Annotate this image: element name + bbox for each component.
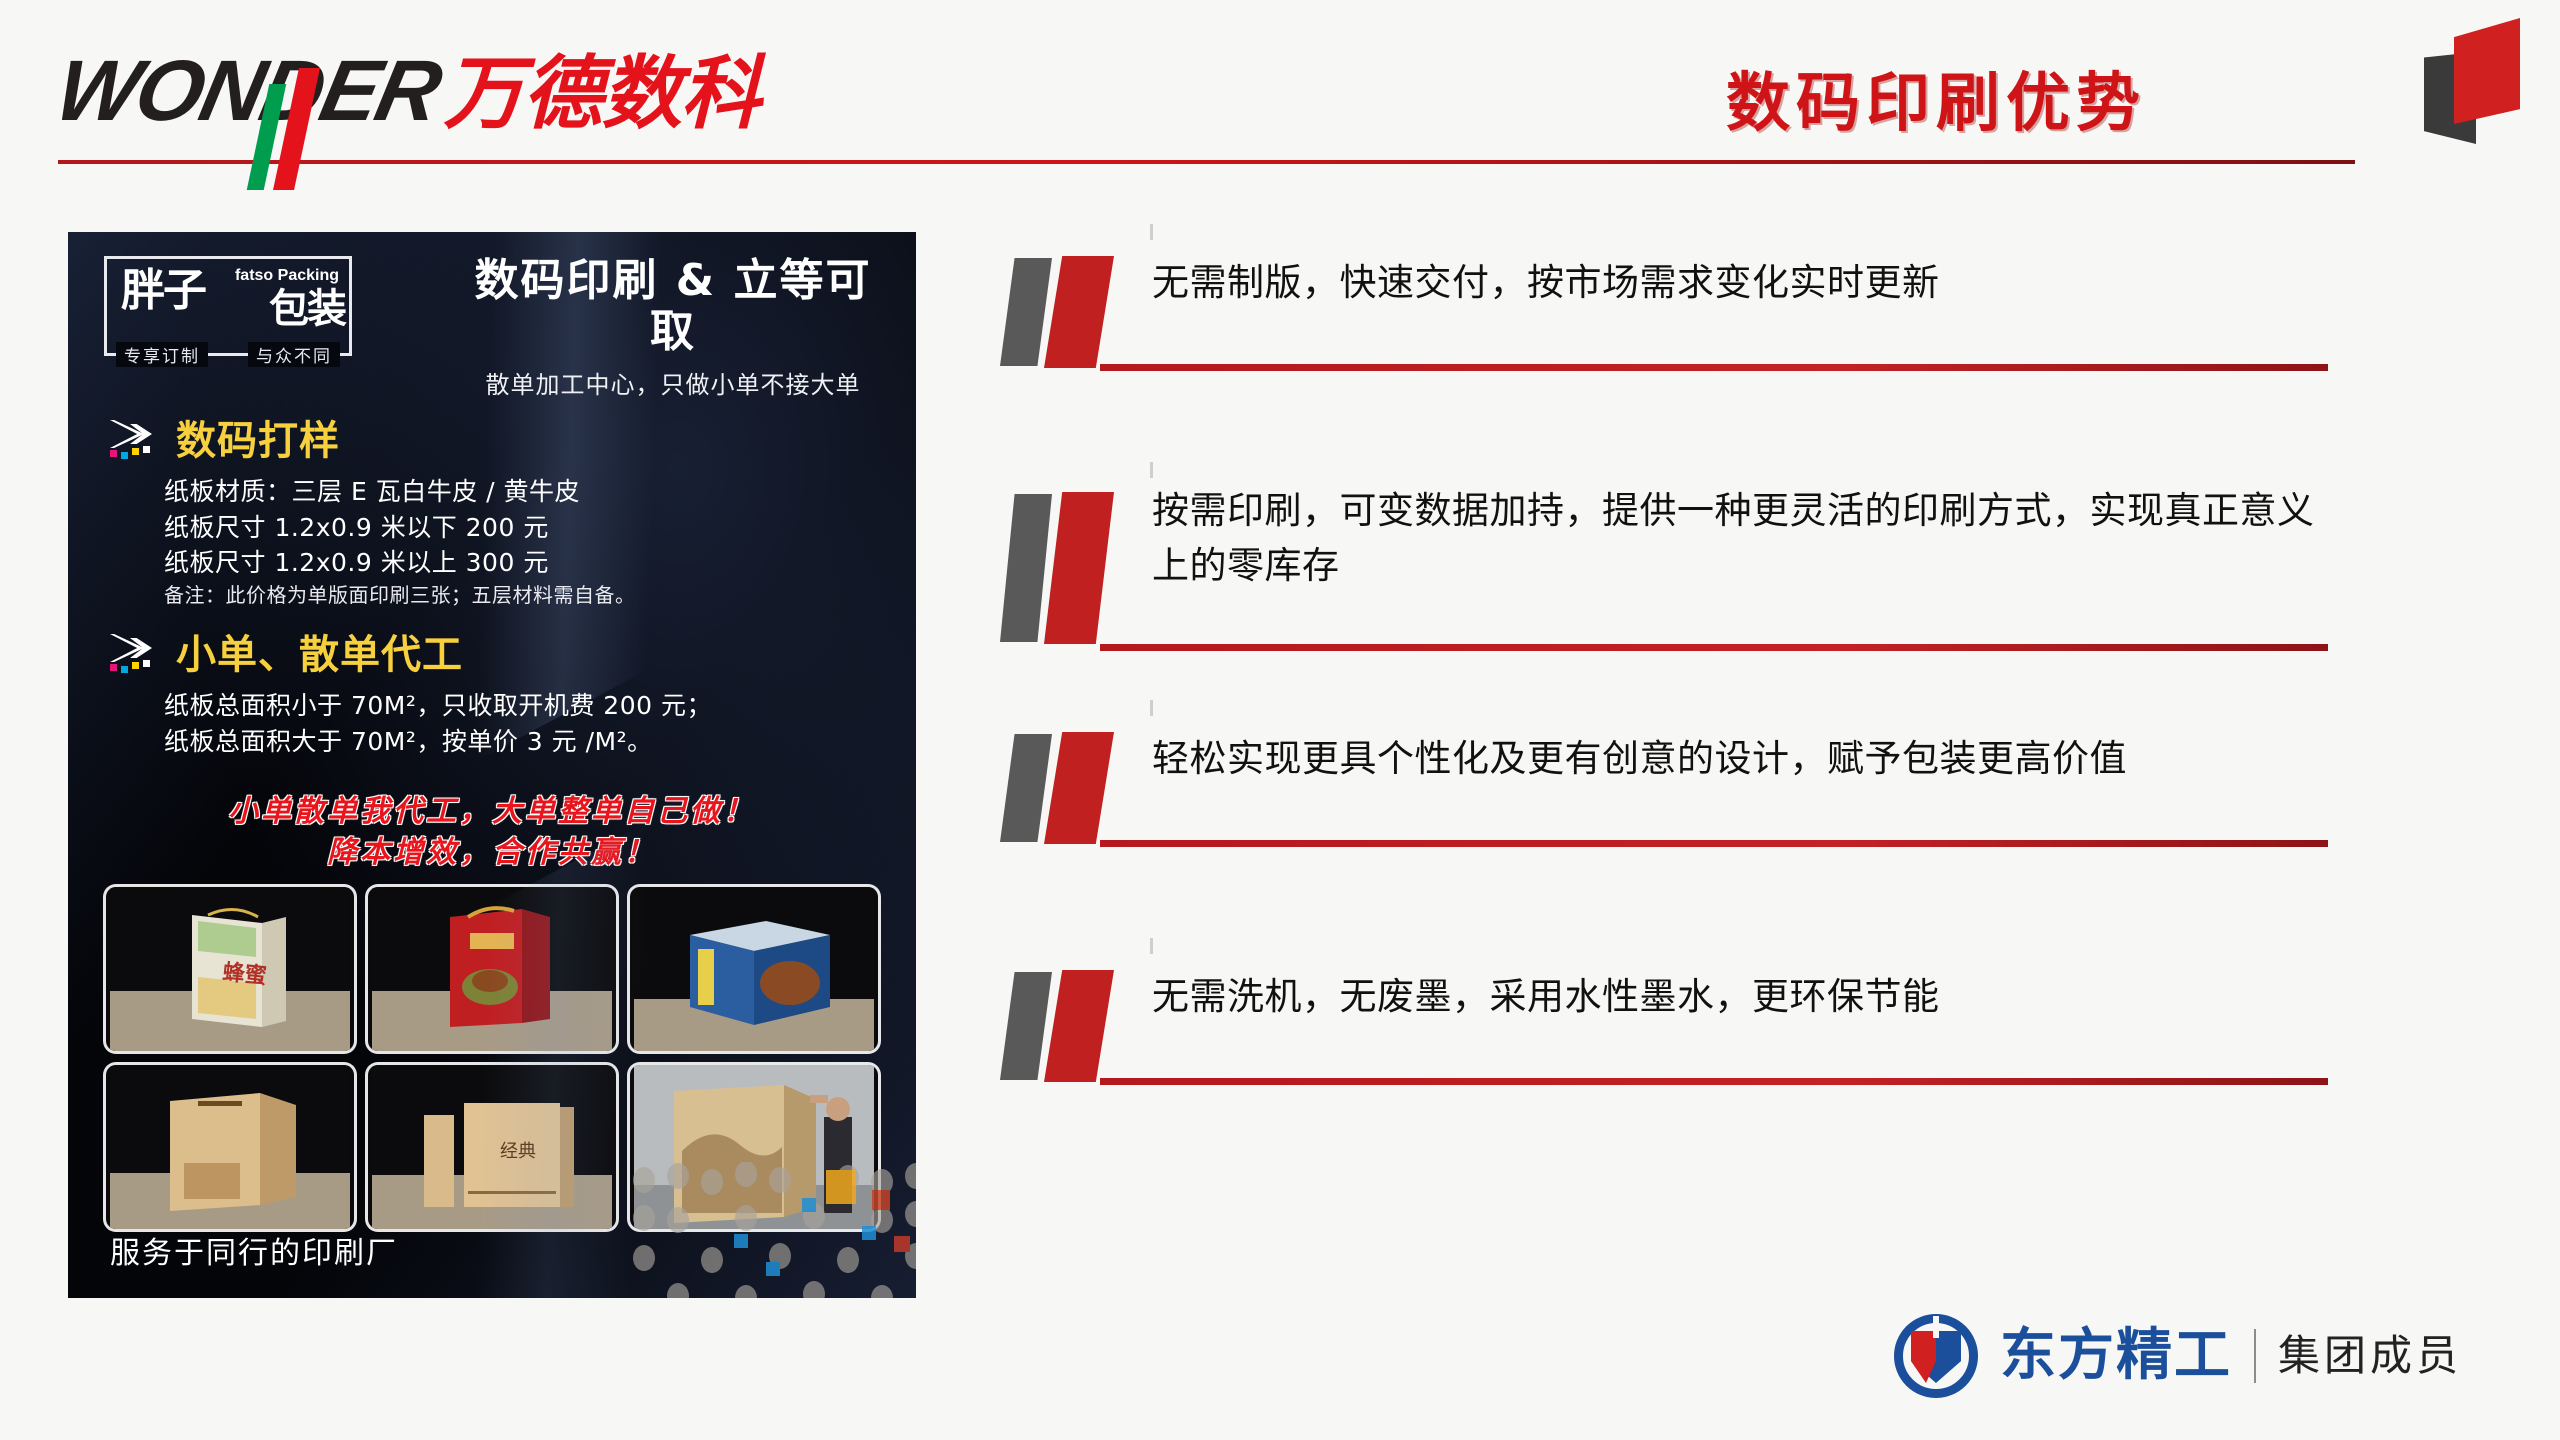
tick-mark-icon <box>1150 938 1153 954</box>
section-1-header: 数码打样 <box>104 418 896 464</box>
fatso-logo-en: fatso Packing <box>235 267 339 285</box>
brand-latin-text: WONDER <box>49 48 447 134</box>
fatso-logo-cn2: 包装 <box>269 289 345 329</box>
corner-decoration-icon <box>2418 6 2526 156</box>
product-photo <box>106 1065 354 1229</box>
section-2-line-2: 纸板总面积大于 70M²，按单价 3 元 /M²。 <box>164 724 896 760</box>
footer-member-label: 集团成员 <box>2278 1335 2462 1377</box>
section-1-note: 备注：此价格为单版面印刷三张；五层材料需自备。 <box>164 581 896 609</box>
poster-image: 胖子 fatso Packing 包装 专享订制 与众不同 数码印刷 & 立等可… <box>68 232 916 1298</box>
honey-gift-box-image: 蜂蜜 <box>106 887 354 1051</box>
corner-red-shape <box>2454 18 2520 124</box>
brand-chinese-text: 万德数科 <box>444 54 760 134</box>
poster-subheadline: 散单加工中心，只做小单不接大单 <box>458 365 888 400</box>
section-2-header: 小单、散单代工 <box>104 632 896 678</box>
advantage-underline <box>1100 364 2328 371</box>
tick-mark-icon <box>1150 462 1153 478</box>
chevron-arrow-icon <box>104 418 162 464</box>
dot-pattern-decoration <box>626 1162 916 1298</box>
section-2-line-1: 纸板总面积小于 70M²，只收取开机费 200 元； <box>164 688 896 724</box>
fatso-logo-cn: 胖子 <box>121 269 205 313</box>
page-title: 数码印刷优势 <box>1726 52 2146 144</box>
large-scenic-box-with-person-image <box>630 1065 878 1229</box>
tagline-left: 专享订制 <box>116 342 208 367</box>
poster-slogan: 小单散单我代工，大单整单自己做！ 降本增效，合作共赢！ <box>68 792 916 873</box>
advantage-text-2: 按需印刷，可变数据加持，提供一种更灵活的印刷方式，实现真正意义上的零库存 <box>1152 484 2330 594</box>
advantage-text-1: 无需制版，快速交付，按市场需求变化实时更新 <box>1152 256 2330 311</box>
fatso-logo: 胖子 fatso Packing 包装 专享订制 与众不同 <box>104 256 352 356</box>
svg-text:蜂蜜: 蜂蜜 <box>221 959 267 989</box>
beef-carton-box-image <box>630 887 878 1051</box>
slogan-line-2: 降本增效，合作共赢！ <box>68 833 916 874</box>
footer-divider <box>2254 1329 2256 1383</box>
group-member-logo: 东方精工 集团成员 <box>1894 1314 2462 1398</box>
footer-company-name: 东方精工 <box>2000 1328 2232 1384</box>
advantage-underline <box>1100 840 2328 847</box>
advantage-marker-icon <box>1000 732 1128 844</box>
tick-mark-icon <box>1150 224 1153 240</box>
product-photo <box>630 887 878 1051</box>
advantage-text-4: 无需洗机，无废墨，采用水性墨水，更环保节能 <box>1152 970 2330 1025</box>
advantage-underline <box>1100 1078 2328 1085</box>
advantage-item-2: 按需印刷，可变数据加持，提供一种更灵活的印刷方式，实现真正意义上的零库存 <box>1000 484 2330 722</box>
poster-footer-text: 服务于同行的印刷厂 <box>110 1228 398 1272</box>
dongfang-emblem-icon <box>1894 1314 1978 1398</box>
product-photo: 经典 <box>368 1065 616 1229</box>
company-logo: WONDER 万德数科 <box>58 48 760 134</box>
advantage-marker-icon <box>1000 256 1128 368</box>
advantage-underline <box>1100 644 2328 651</box>
header-divider <box>58 160 2355 164</box>
section-1-line-3: 纸板尺寸 1.2x0.9 米以上 300 元 <box>164 545 896 581</box>
poster-section-1: 数码打样 纸板材质：三层 E 瓦白牛皮 / 黄牛皮 纸板尺寸 1.2x0.9 米… <box>104 418 896 609</box>
product-photo <box>630 1065 878 1229</box>
advantage-marker-icon <box>1000 492 1128 642</box>
tagline-right: 与众不同 <box>248 342 340 367</box>
red-food-gift-box-image <box>368 887 616 1051</box>
section-1-line-1: 纸板材质：三层 E 瓦白牛皮 / 黄牛皮 <box>164 474 896 510</box>
tick-mark-icon <box>1150 700 1153 716</box>
section-1-lines: 纸板材质：三层 E 瓦白牛皮 / 黄牛皮 纸板尺寸 1.2x0.9 米以下 20… <box>164 474 896 609</box>
section-1-line-2: 纸板尺寸 1.2x0.9 米以下 200 元 <box>164 510 896 546</box>
classic-kraft-box-set-image: 经典 <box>368 1065 616 1229</box>
chevron-arrow-icon <box>104 632 162 678</box>
section-1-title: 数码打样 <box>176 421 340 461</box>
slide-root: WONDER 万德数科 数码印刷优势 胖子 fatso Packing 包装 专… <box>0 0 2560 1440</box>
advantages-list: 无需制版，快速交付，按市场需求变化实时更新 按需印刷，可变数据加持，提供一种更灵… <box>1000 246 2330 1198</box>
section-2-title: 小单、散单代工 <box>176 635 463 675</box>
poster-headline-block: 数码印刷 & 立等可取 散单加工中心，只做小单不接大单 <box>458 256 888 400</box>
svg-text:经典: 经典 <box>500 1141 536 1162</box>
advantage-item-4: 无需洗机，无废墨，采用水性墨水，更环保节能 <box>1000 960 2330 1198</box>
poster-section-2: 小单、散单代工 纸板总面积小于 70M²，只收取开机费 200 元； 纸板总面积… <box>104 632 896 759</box>
product-photo <box>368 887 616 1051</box>
section-2-lines: 纸板总面积小于 70M²，只收取开机费 200 元； 纸板总面积大于 70M²，… <box>164 688 896 759</box>
poster-headline: 数码印刷 & 立等可取 <box>458 256 888 357</box>
product-photo: 蜂蜜 <box>106 887 354 1051</box>
slogan-line-1: 小单散单我代工，大单整单自己做！ <box>68 792 916 833</box>
advantage-marker-icon <box>1000 970 1128 1082</box>
advantage-item-3: 轻松实现更具个性化及更有创意的设计，赋予包装更高价值 <box>1000 722 2330 960</box>
product-photo-grid: 蜂蜜 <box>106 887 878 1229</box>
advantage-text-3: 轻松实现更具个性化及更有创意的设计，赋予包装更高价值 <box>1152 732 2330 787</box>
advantage-item-1: 无需制版，快速交付，按市场需求变化实时更新 <box>1000 246 2330 484</box>
fatso-logo-tagline: 专享订制 与众不同 <box>107 342 349 367</box>
kraft-handle-box-image <box>106 1065 354 1229</box>
